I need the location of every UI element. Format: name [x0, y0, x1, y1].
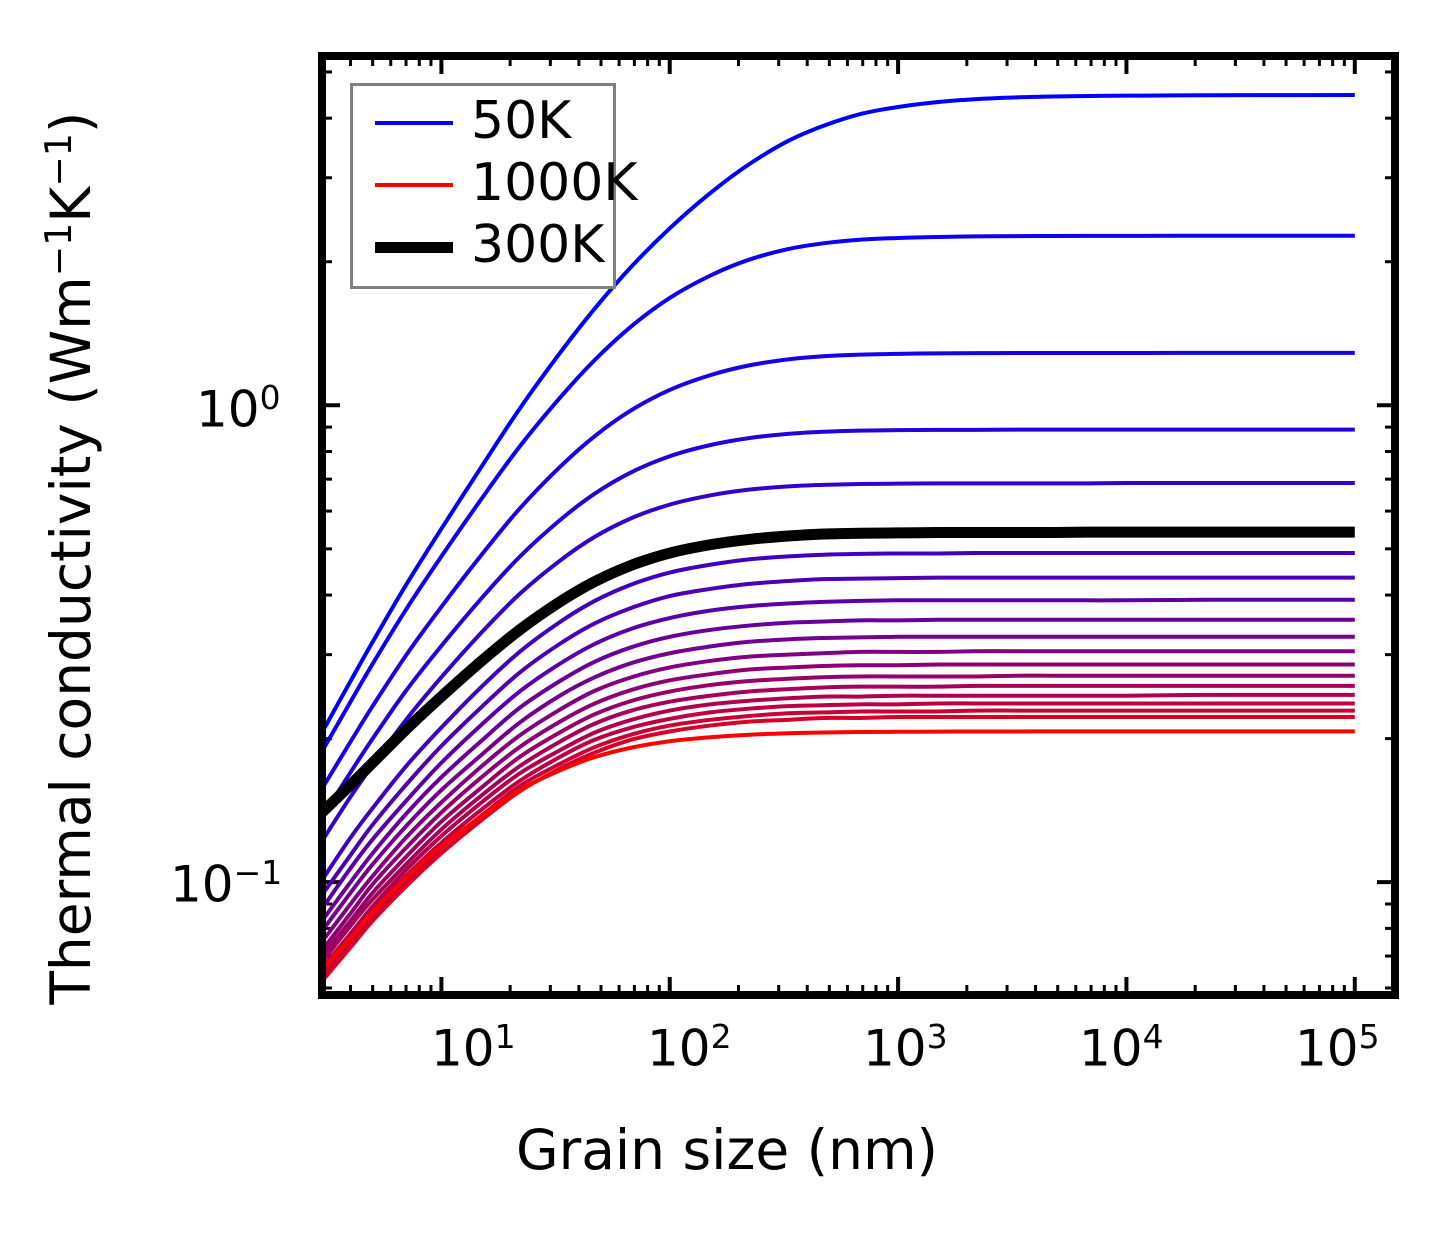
- figure-canvas: 100 10−1 101 102 103 104 105 Grain size …: [0, 0, 1454, 1254]
- y-axis-label-exp2: −1: [37, 133, 80, 187]
- x-tick-label-1e1: 101: [431, 1017, 516, 1078]
- legend-label-300K: 300K: [471, 219, 604, 271]
- y-tick-mantissa: 10: [196, 381, 260, 439]
- x-tick-label-1e3: 103: [863, 1017, 948, 1078]
- legend-item-1000K[interactable]: 1000K: [353, 154, 613, 216]
- curve-900K: [322, 711, 1355, 978]
- x-tick-mantissa: 10: [1295, 1020, 1359, 1078]
- x-tick-mantissa: 10: [647, 1020, 711, 1078]
- curve-400K: [322, 578, 1355, 895]
- legend-swatch-300K: [375, 242, 453, 253]
- curve-800K: [322, 695, 1355, 968]
- curve-150K: [322, 353, 1355, 789]
- x-tick-exponent: 5: [1359, 1017, 1380, 1056]
- x-tick-exponent: 3: [927, 1017, 948, 1056]
- x-tick-exponent: 2: [711, 1017, 732, 1056]
- legend-label-1000K: 1000K: [471, 157, 637, 209]
- y-tick-exponent: 0: [260, 378, 281, 417]
- x-tick-label-1e5: 105: [1295, 1017, 1380, 1078]
- y-tick-exponent: −1: [234, 853, 283, 892]
- legend: 50K 1000K 300K: [350, 83, 616, 289]
- x-axis-label-text: Grain size (nm): [516, 1118, 938, 1182]
- x-tick-exponent: 4: [1143, 1017, 1164, 1056]
- y-axis-label: Thermal conductivity (Wm−1K−1): [37, 58, 103, 1058]
- x-tick-label-1e4: 104: [1079, 1017, 1164, 1078]
- legend-item-50K[interactable]: 50K: [353, 92, 613, 154]
- x-tick-mantissa: 10: [431, 1020, 495, 1078]
- curve-1000K: [322, 731, 1355, 969]
- x-tick-mantissa: 10: [863, 1020, 927, 1078]
- y-axis-label-close: ): [39, 112, 103, 133]
- y-tick-label-1e-1: 10−1: [170, 853, 282, 914]
- y-axis-label-exp1: −1: [37, 223, 80, 277]
- legend-item-300K[interactable]: 300K: [353, 216, 613, 278]
- x-tick-label-1e2: 102: [647, 1017, 732, 1078]
- x-axis-label: Grain size (nm): [0, 1118, 1454, 1182]
- x-tick-exponent: 1: [495, 1017, 516, 1056]
- legend-label-50K: 50K: [471, 95, 571, 147]
- y-tick-label-1e0: 100: [196, 378, 281, 439]
- legend-swatch-1000K: [375, 183, 453, 187]
- curve-550K: [322, 637, 1355, 931]
- curve-450K: [322, 600, 1355, 909]
- legend-swatch-50K: [375, 121, 453, 125]
- x-tick-mantissa: 10: [1079, 1020, 1143, 1078]
- y-axis-label-base: Thermal conductivity (Wm: [39, 276, 103, 1004]
- y-tick-mantissa: 10: [170, 856, 234, 914]
- y-axis-label-mid: K: [39, 187, 103, 223]
